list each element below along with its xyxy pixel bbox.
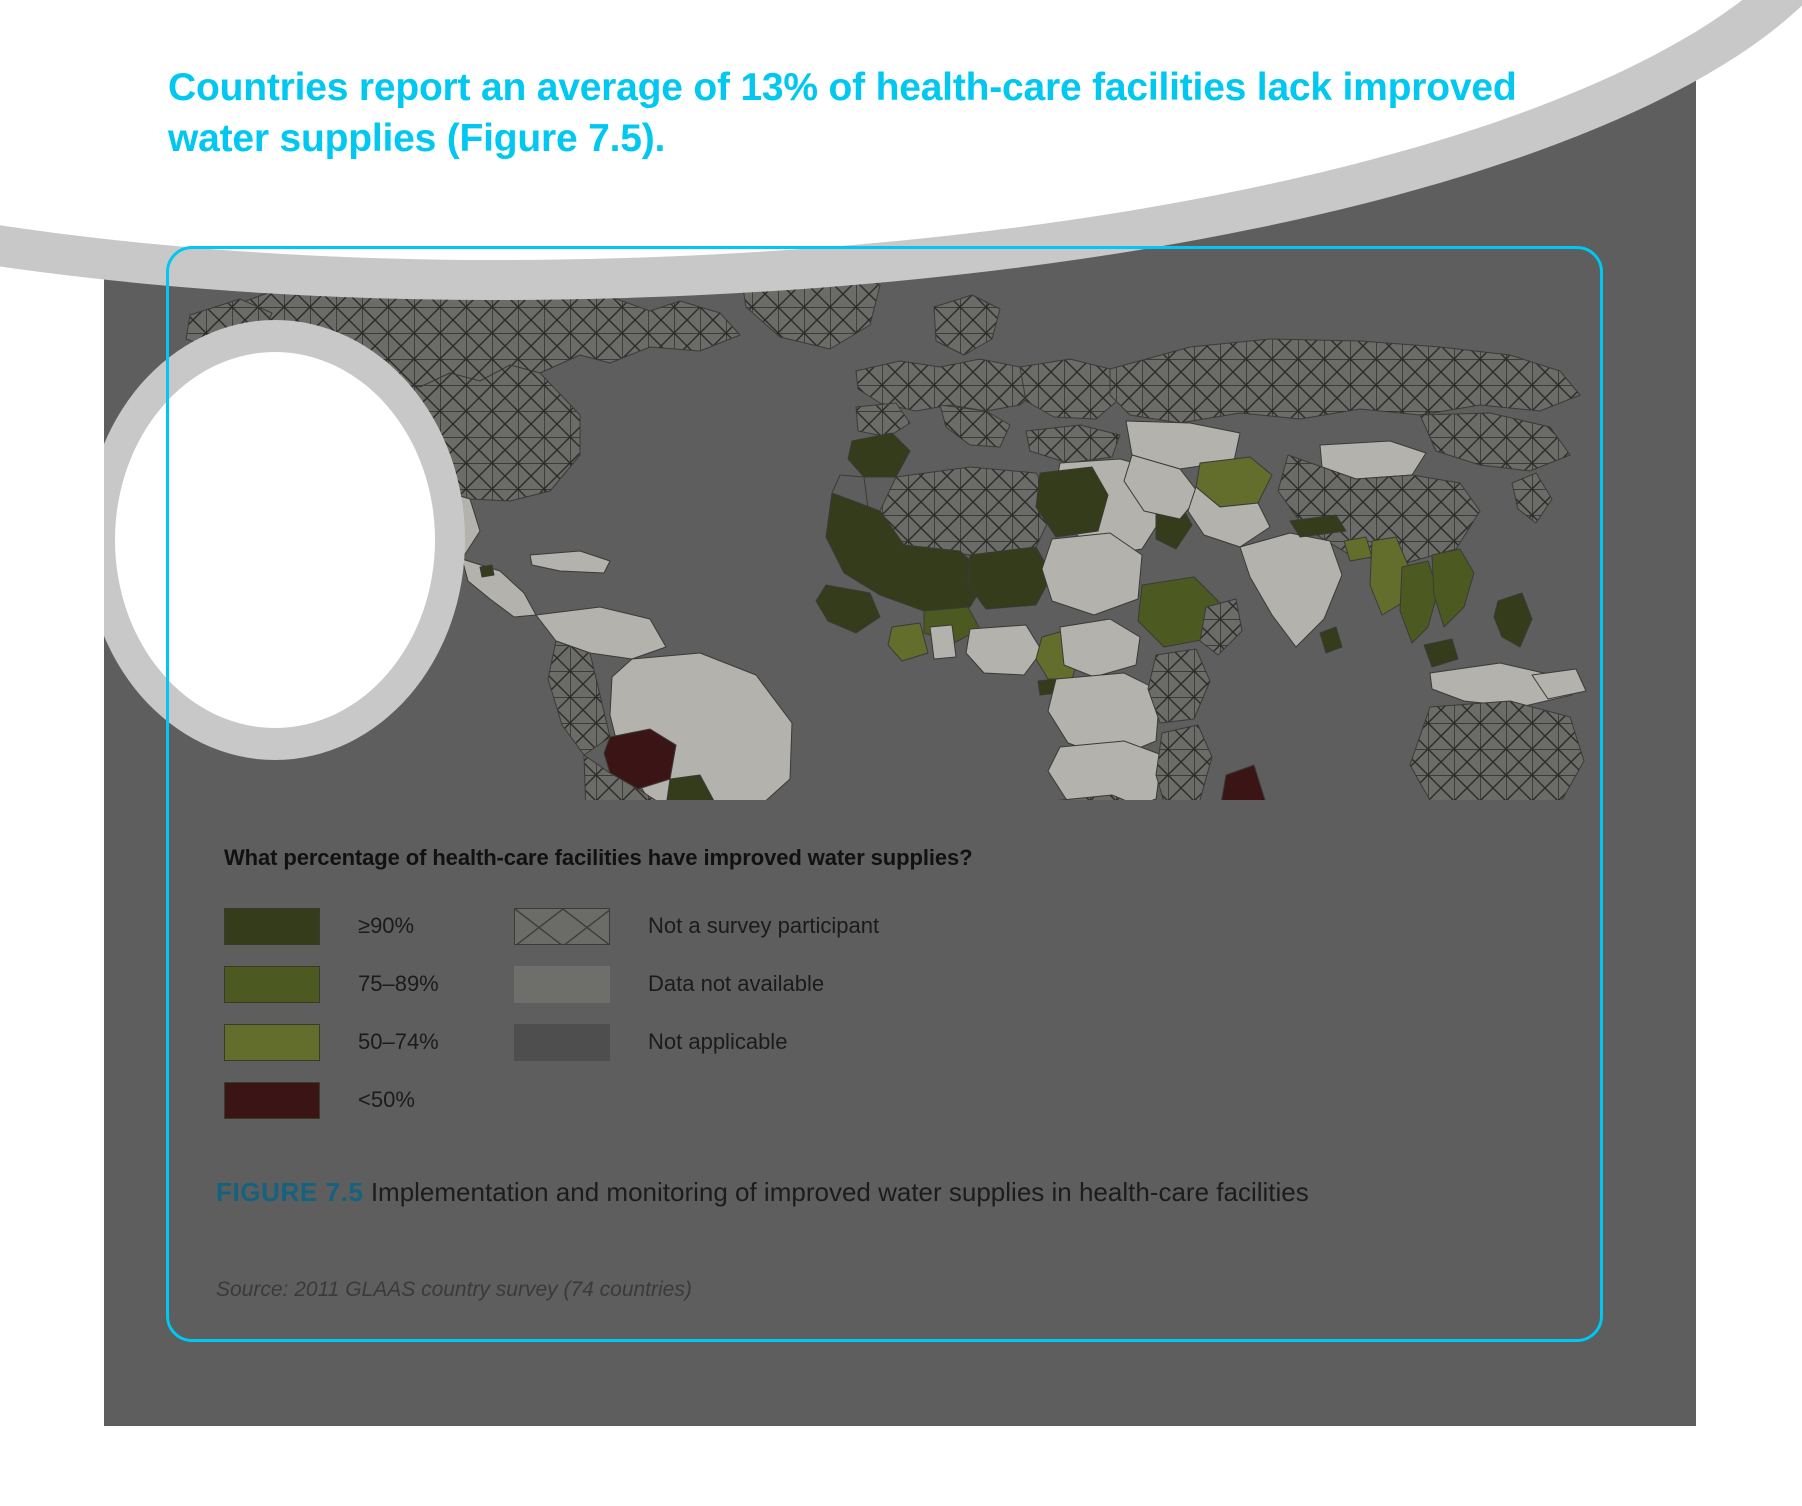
region-morocco	[848, 433, 910, 477]
legend-item: 75–89%	[224, 955, 514, 1013]
legend-item: Not applicable	[514, 1013, 879, 1071]
region-scandinavia	[934, 295, 1000, 355]
map-legend: What percentage of health-care facilitie…	[224, 845, 1424, 1129]
region-malaysia-indonesia	[1424, 639, 1458, 667]
region-caribbean	[530, 551, 610, 573]
region-nigeria	[966, 625, 1042, 675]
legend-swatch-lt50	[224, 1082, 320, 1119]
region-siberia-east	[1420, 413, 1570, 471]
legend-item: Data not available	[514, 955, 879, 1013]
region-egypt	[1036, 467, 1108, 537]
region-angola-zambia	[1048, 741, 1162, 800]
legend-columns: ≥90% 75–89% 50–74% <50%	[224, 897, 1424, 1129]
region-japan	[1512, 473, 1552, 523]
legend-label-lt50: <50%	[358, 1087, 415, 1113]
region-central-africa	[1060, 619, 1140, 677]
hatch-pattern-icon	[515, 909, 610, 945]
legend-swatch-not-survey-participant	[514, 908, 610, 945]
figure-caption: FIGURE 7.5 Implementation and monitoring…	[216, 1175, 1586, 1210]
legend-label-not-applicable: Not applicable	[648, 1029, 787, 1055]
legend-item: Not a survey participant	[514, 897, 879, 955]
figure-number: FIGURE 7.5	[216, 1177, 364, 1207]
region-mozambique	[1156, 725, 1212, 800]
region-western-europe	[856, 359, 1040, 411]
region-philippines	[1494, 593, 1532, 647]
region-guinea-sierraleone	[816, 585, 880, 633]
region-somalia	[1200, 599, 1242, 655]
decorative-white-circle	[115, 352, 435, 728]
region-turkey-caucasus	[1026, 425, 1120, 463]
legend-item: <50%	[224, 1071, 514, 1129]
legend-column-status: Not a survey participant Data not availa…	[514, 897, 879, 1071]
legend-label-ge90: ≥90%	[358, 913, 414, 939]
region-eastern-europe	[1020, 359, 1124, 419]
legend-column-values: ≥90% 75–89% 50–74% <50%	[224, 897, 514, 1129]
region-niger	[968, 547, 1052, 609]
legend-item: 50–74%	[224, 1013, 514, 1071]
region-vietnam	[1432, 549, 1474, 627]
region-italy-balkans	[940, 405, 1010, 447]
region-algeria-libya	[880, 467, 1056, 555]
legend-swatch-data-not-available	[514, 966, 610, 1003]
legend-swatch-not-applicable	[514, 1024, 610, 1061]
region-thailand	[1400, 561, 1438, 643]
legend-swatch-50-74	[224, 1024, 320, 1061]
region-madagascar	[1218, 765, 1266, 800]
region-india	[1240, 533, 1342, 647]
legend-swatch-75-89	[224, 966, 320, 1003]
legend-label-not-survey-participant: Not a survey participant	[648, 913, 879, 939]
legend-swatch-ge90	[224, 908, 320, 945]
figure-caption-text: Implementation and monitoring of improve…	[364, 1177, 1309, 1207]
figure-source: Source: 2011 GLAAS country survey (74 co…	[216, 1278, 692, 1302]
legend-label-50-74: 50–74%	[358, 1029, 439, 1055]
region-australia	[1410, 701, 1584, 800]
region-east-africa	[1148, 649, 1210, 723]
region-ghana	[888, 623, 928, 661]
legend-title: What percentage of health-care facilitie…	[224, 845, 1424, 871]
region-belize	[480, 565, 494, 577]
legend-label-data-not-available: Data not available	[648, 971, 824, 997]
region-togo-benin	[930, 625, 956, 659]
region-peru-ecuador	[548, 641, 610, 755]
region-russia	[1110, 339, 1580, 423]
region-central-america	[462, 559, 536, 617]
region-sri-lanka	[1320, 627, 1342, 653]
region-greenland	[740, 263, 880, 349]
region-chad-sudan	[1042, 533, 1142, 615]
legend-label-75-89: 75–89%	[358, 971, 439, 997]
legend-item: ≥90%	[224, 897, 514, 955]
decorative-left-margin-mask	[0, 300, 104, 780]
